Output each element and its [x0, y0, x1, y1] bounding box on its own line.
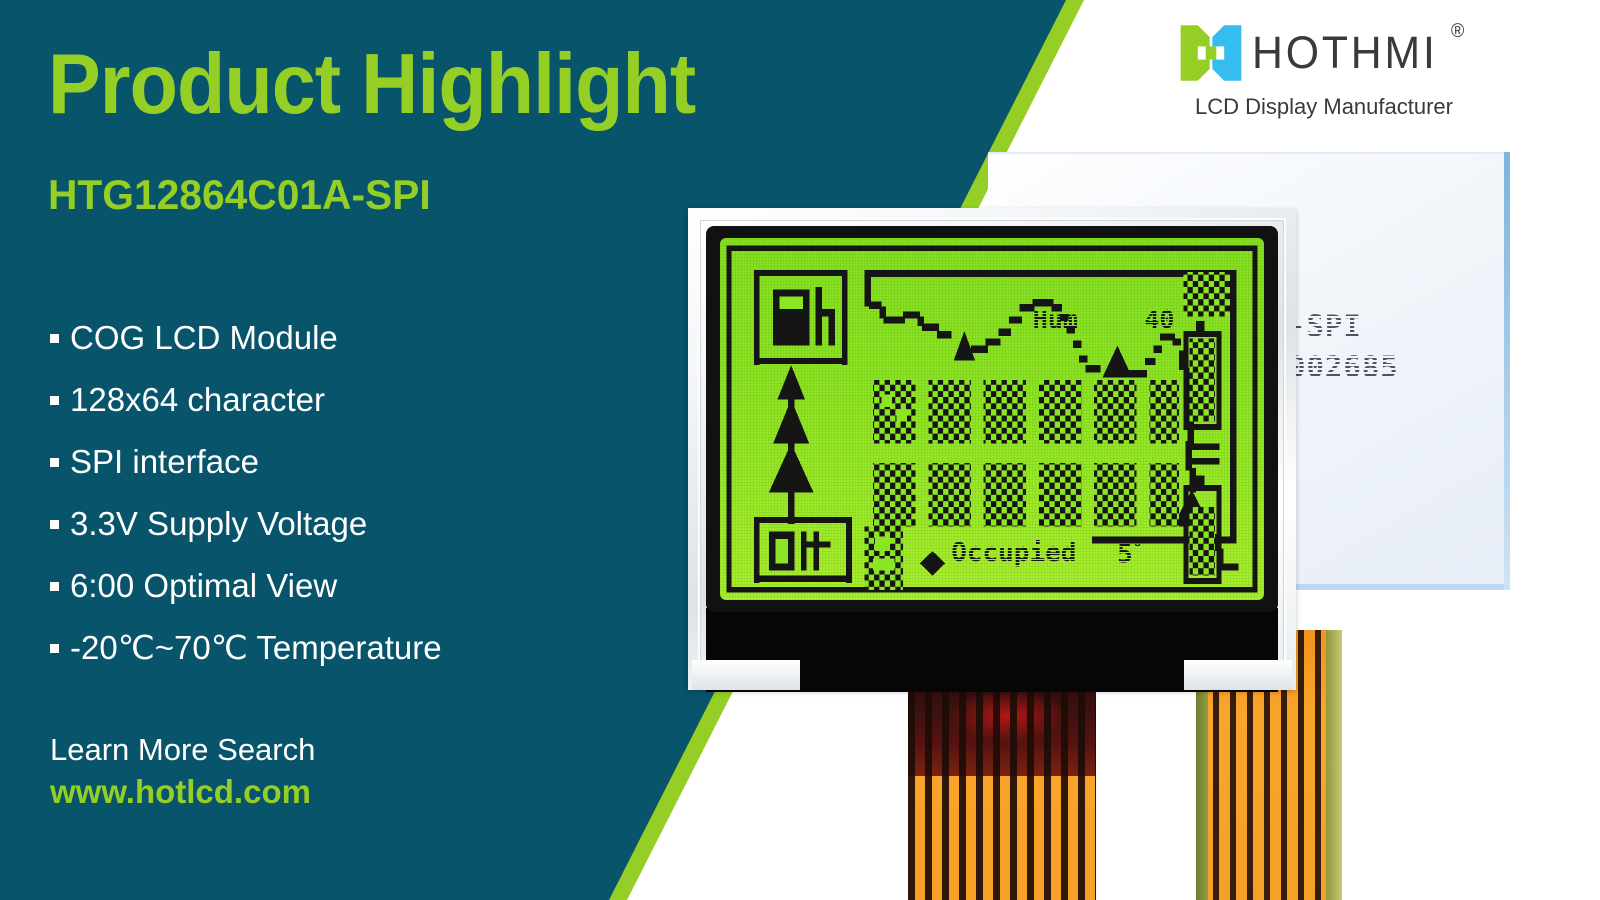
logo-wordmark: HOTHMI ® — [1252, 27, 1438, 79]
registered-trademark-icon: ® — [1451, 21, 1464, 43]
fpc-right-edge-right — [1326, 630, 1342, 900]
product-model-subtitle: HTG12864C01A-SPI — [48, 172, 431, 218]
lcd-status-label: Occupied — [951, 538, 1076, 568]
feature-label: 128x64 character — [70, 380, 325, 420]
feature-list: COG LCD Module 128x64 character SPI inte… — [50, 318, 650, 690]
lcd-occupancy-icon — [865, 527, 903, 591]
lcd-bottom-left-box — [754, 517, 852, 583]
list-item: -20℃~70℃ Temperature — [50, 628, 650, 690]
lcd-diamond-bullet — [920, 551, 946, 575]
lcd-data-blocks-row2 — [873, 463, 1179, 527]
logo-row: HOTHMI ® — [1178, 14, 1478, 92]
lcd-border-top — [726, 245, 1257, 251]
learn-more-text: Learn More Search — [50, 731, 315, 769]
front-lcd-module: Hum 40 Occupied 5° — [688, 208, 1296, 690]
list-item: COG LCD Module — [50, 318, 650, 380]
feature-label: COG LCD Module — [70, 318, 338, 358]
lcd-setpoint-value: 5° — [1117, 538, 1142, 570]
fpc-cable-left — [908, 672, 1096, 900]
feature-label: 6:00 Optimal View — [70, 566, 337, 606]
lcd-border-left — [726, 245, 731, 592]
bullet-square-icon — [50, 520, 59, 529]
list-item: 3.3V Supply Voltage — [50, 504, 650, 566]
feature-label: -20℃~70℃ Temperature — [70, 628, 442, 668]
rear-printed-line-1: -SPI — [1288, 306, 1399, 347]
lcd-screen: Hum 40 Occupied 5° — [720, 238, 1264, 600]
logo-wordmark-text: HOTHMI — [1252, 27, 1438, 78]
lcd-grid-icon — [1183, 272, 1230, 316]
bullet-square-icon — [50, 582, 59, 591]
lcd-setpoint-number: 5 — [1117, 540, 1133, 570]
list-item: SPI interface — [50, 442, 650, 504]
rear-module-printed-text: -SPI 002685 — [1288, 306, 1399, 388]
fpc-left-traces — [908, 672, 1096, 900]
left-content-column: Product Highlight HTG12864C01A-SPI COG L… — [48, 0, 668, 900]
lcd-display-frame: Hum 40 Occupied 5° — [706, 226, 1278, 612]
list-item: 6:00 Optimal View — [50, 566, 650, 628]
lcd-top-left-box — [754, 270, 848, 365]
lcd-border-right — [1253, 245, 1258, 592]
bullet-square-icon — [50, 334, 59, 343]
list-item: 128x64 character — [50, 380, 650, 442]
hothmi-h-logo-icon — [1178, 20, 1244, 86]
lcd-humidity-label: Hum — [1033, 305, 1078, 334]
logo-tagline: LCD Display Manufacturer — [1178, 94, 1470, 120]
lcd-antenna-icon — [769, 365, 814, 524]
feature-label: SPI interface — [70, 442, 259, 482]
website-link[interactable]: www.hotlcd.com — [50, 772, 311, 812]
bullet-square-icon — [50, 644, 59, 653]
page-title: Product Highlight — [48, 42, 695, 128]
lcd-setpoint-degree: ° — [1133, 538, 1143, 557]
lcd-bezel-tab-right — [1184, 660, 1292, 690]
lcd-data-blocks-row1 — [873, 380, 1179, 444]
feature-label: 3.3V Supply Voltage — [70, 504, 367, 544]
lcd-border-bottom — [726, 587, 1257, 593]
poster-canvas: -SPI 002685 — [0, 0, 1600, 900]
bullet-square-icon — [50, 396, 59, 405]
bullet-square-icon — [50, 458, 59, 467]
brand-logo: HOTHMI ® LCD Display Manufacturer — [1178, 14, 1478, 134]
lcd-humidity-value: 40 — [1144, 305, 1174, 334]
rear-printed-line-2: 002685 — [1288, 347, 1399, 388]
lcd-bezel-tab-left — [692, 660, 800, 690]
